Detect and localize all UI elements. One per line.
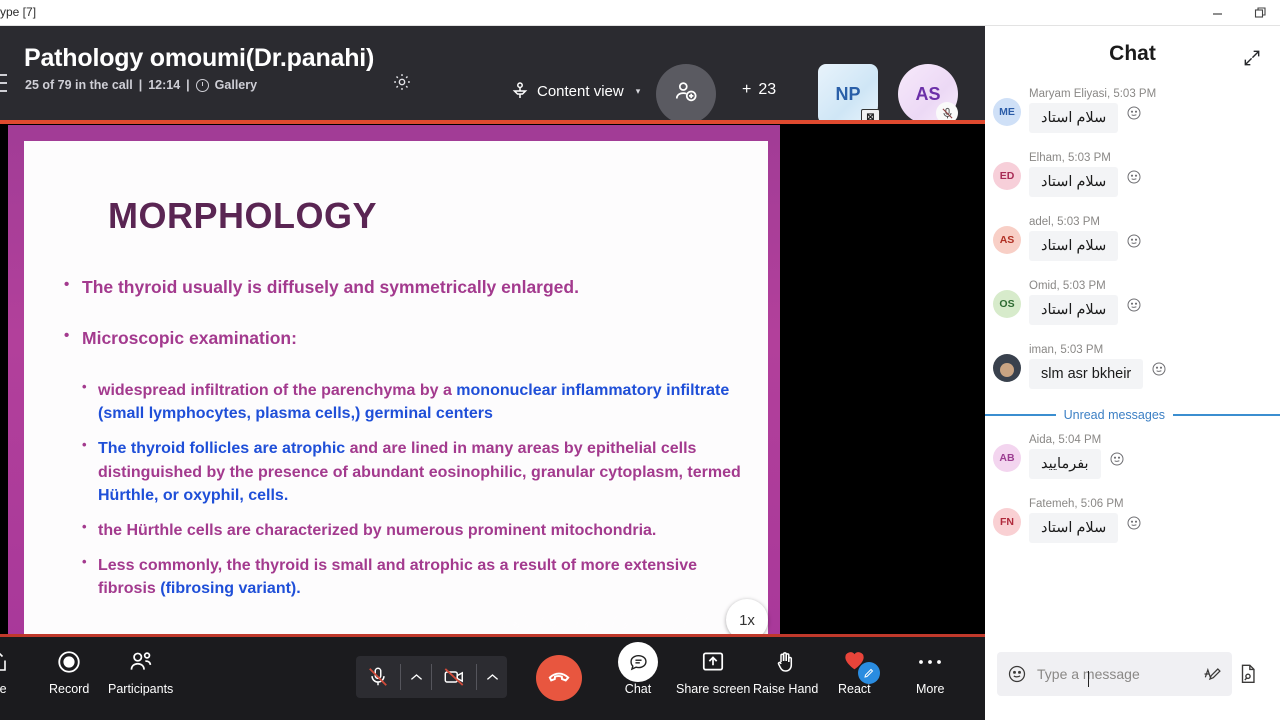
- list-item[interactable]: AS adel, 5:03 PM سلام استاد: [991, 216, 1270, 268]
- message-text: بفرمایید: [1029, 449, 1101, 479]
- chat-button[interactable]: Chat: [618, 648, 658, 696]
- participants-button[interactable]: Participants: [108, 648, 173, 696]
- record-icon: [56, 648, 82, 676]
- expand-icon[interactable]: [1242, 48, 1262, 68]
- smiley-icon[interactable]: [1126, 515, 1142, 531]
- layout-icon: [196, 79, 209, 92]
- subtitle-separator-2: |: [186, 78, 190, 92]
- invite-label: ite: [0, 682, 7, 696]
- emoji-icon[interactable]: [1007, 664, 1027, 684]
- avatar-np-initials: NP: [835, 84, 860, 105]
- content-view-icon: [512, 82, 528, 100]
- slide-body: The thyroid usually is diffusely and sym…: [50, 277, 742, 601]
- slide-bullet: Microscopic examination:: [64, 328, 742, 349]
- layout-label: Gallery: [215, 78, 257, 92]
- react-label: React: [838, 682, 871, 696]
- overflow-count: 23: [758, 81, 776, 99]
- mic-control-group[interactable]: [356, 656, 507, 698]
- smiley-icon[interactable]: [1126, 297, 1142, 313]
- avatar: FN: [993, 508, 1021, 536]
- avatar-np[interactable]: NP ⊠: [818, 64, 878, 124]
- add-person-icon: [673, 79, 699, 110]
- avatar-as[interactable]: AS: [898, 64, 958, 124]
- message-meta: Elham, 5:03 PM: [1029, 152, 1270, 164]
- chat-title: Chat: [985, 42, 1280, 66]
- unread-messages-divider: Unread messages: [985, 408, 1280, 422]
- message-text: سلام استاد: [1029, 295, 1118, 325]
- text-cursor: [1088, 671, 1089, 687]
- divider-line-left: [985, 414, 1056, 416]
- meeting-header: Pathology omoumi(Dr.panahi) 25 of 79 in …: [0, 26, 985, 120]
- raise-hand-label: Raise Hand: [753, 682, 818, 696]
- list-item[interactable]: AB Aida, 5:04 PM بفرمایید: [991, 434, 1270, 486]
- slide-frame[interactable]: MORPHOLOGY The thyroid usually is diffus…: [8, 125, 780, 653]
- mic-options-chevron-icon[interactable]: [401, 656, 431, 698]
- smiley-icon[interactable]: [1151, 361, 1167, 377]
- gear-icon[interactable]: [392, 72, 412, 92]
- meeting-title: Pathology omoumi(Dr.panahi): [24, 44, 374, 73]
- camera-off-icon[interactable]: [432, 656, 476, 698]
- avatar: AS: [993, 226, 1021, 254]
- avatar-as-initials: AS: [915, 84, 940, 105]
- attach-file-icon[interactable]: [1226, 652, 1270, 696]
- chat-label: Chat: [625, 682, 651, 696]
- smiley-icon[interactable]: [1126, 105, 1142, 121]
- slide-bullet: The thyroid follicles are atrophic and a…: [82, 437, 742, 507]
- format-text-icon[interactable]: [1202, 664, 1222, 684]
- ellipsis-icon: [917, 648, 943, 676]
- slide-bullet: Less commonly, the thyroid is small and …: [82, 554, 742, 600]
- smiley-icon[interactable]: [1126, 169, 1142, 185]
- message-meta: Fatemeh, 5:06 PM: [1029, 498, 1270, 510]
- chat-panel: Chat ME Maryam Eliyasi, 5:03 PM سلام است…: [985, 26, 1280, 720]
- slide-canvas: MORPHOLOGY The thyroid usually is diffus…: [24, 141, 768, 641]
- chevron-down-icon[interactable]: ▾: [636, 86, 641, 97]
- message-text: سلام استاد: [1029, 513, 1118, 543]
- content-view-label: Content view: [537, 83, 624, 100]
- share-screen-label: Share screen: [676, 682, 750, 696]
- chat-message-list[interactable]: ME Maryam Eliyasi, 5:03 PM سلام استاد ED…: [985, 88, 1280, 550]
- message-text: سلام استاد: [1029, 103, 1118, 133]
- message-input[interactable]: Type a message: [1037, 666, 1192, 682]
- slide-bullet: The thyroid usually is diffusely and sym…: [64, 277, 742, 298]
- edit-reaction-badge[interactable]: [858, 662, 880, 684]
- subtitle-separator-1: |: [139, 78, 143, 92]
- meeting-toolbar: ite Record Participants: [0, 634, 985, 720]
- divider-line-right: [1173, 414, 1280, 416]
- invite-button[interactable]: ite: [0, 648, 12, 696]
- smiley-icon[interactable]: [1126, 233, 1142, 249]
- shared-content-stage: MORPHOLOGY The thyroid usually is diffus…: [0, 120, 985, 660]
- participants-label: Participants: [108, 682, 173, 696]
- list-item[interactable]: ED Elham, 5:03 PM سلام استاد: [991, 152, 1270, 204]
- content-view-button[interactable]: Content view ▾: [512, 82, 640, 100]
- react-button[interactable]: React: [838, 648, 871, 696]
- avatar: ME: [993, 98, 1021, 126]
- list-item[interactable]: ME Maryam Eliyasi, 5:03 PM سلام استاد: [991, 88, 1270, 140]
- mic-muted-icon[interactable]: [356, 656, 400, 698]
- message-text: slm asr bkheir: [1029, 359, 1143, 389]
- raise-hand-icon: [774, 648, 798, 676]
- window-controls: [1208, 0, 1270, 26]
- smiley-icon[interactable]: [1109, 451, 1125, 467]
- record-label: Record: [49, 682, 89, 696]
- message-text: سلام استاد: [1029, 167, 1118, 197]
- more-button[interactable]: More: [916, 648, 944, 696]
- message-composer[interactable]: Type a message: [997, 652, 1232, 696]
- slide-bullet: the Hürthle cells are characterized by n…: [82, 519, 742, 542]
- stage-accent-line: [0, 120, 985, 124]
- meeting-subtitle: 25 of 79 in the call | 12:14 | Gallery: [25, 78, 257, 92]
- hangup-button[interactable]: [536, 655, 582, 701]
- message-meta: iman, 5:03 PM: [1029, 344, 1270, 356]
- window-title: ype [7]: [0, 5, 36, 19]
- share-screen-icon: [700, 648, 726, 676]
- toolbar-accent-line: [0, 634, 985, 637]
- more-label: More: [916, 682, 944, 696]
- chat-header: Chat: [985, 26, 1280, 88]
- hamburger-icon[interactable]: [0, 74, 8, 92]
- chat-icon: [618, 642, 658, 682]
- message-text: سلام استاد: [1029, 231, 1118, 261]
- hangup-icon: [546, 663, 572, 694]
- raise-hand-button[interactable]: Raise Hand: [753, 648, 818, 696]
- list-item[interactable]: iman, 5:03 PM slm asr bkheir: [991, 344, 1270, 396]
- slide-title: MORPHOLOGY: [108, 195, 742, 237]
- avatar: [993, 354, 1021, 382]
- restore-icon[interactable]: [1252, 4, 1270, 22]
- message-meta: Maryam Eliyasi, 5:03 PM: [1029, 88, 1270, 100]
- avatar-photo: [1000, 363, 1014, 377]
- slide-bullet: widespread infiltration of the parenchym…: [82, 379, 742, 425]
- record-button[interactable]: Record: [49, 648, 89, 696]
- meeting-window: Pathology omoumi(Dr.panahi) 25 of 79 in …: [0, 26, 985, 720]
- message-meta: adel, 5:03 PM: [1029, 216, 1270, 228]
- list-item[interactable]: FN Fatemeh, 5:06 PM سلام استاد: [991, 498, 1270, 550]
- participants-icon: [128, 648, 154, 676]
- camera-options-chevron-icon[interactable]: [477, 656, 507, 698]
- plus-icon: +: [742, 81, 751, 99]
- avatar: AB: [993, 444, 1021, 472]
- participants-count: 25 of 79 in the call: [25, 78, 133, 92]
- invite-icon: [0, 648, 12, 676]
- message-meta: Omid, 5:03 PM: [1029, 280, 1270, 292]
- unread-messages-label: Unread messages: [1064, 408, 1165, 422]
- list-item[interactable]: OS Omid, 5:03 PM سلام استاد: [991, 280, 1270, 332]
- message-meta: Aida, 5:04 PM: [1029, 434, 1270, 446]
- window-titlebar: ype [7]: [0, 0, 1280, 26]
- call-duration: 12:14: [148, 78, 180, 92]
- overflow-participants[interactable]: + 23: [742, 81, 776, 99]
- avatar: ED: [993, 162, 1021, 190]
- minimize-icon[interactable]: [1208, 4, 1226, 22]
- share-screen-button[interactable]: Share screen: [676, 648, 750, 696]
- avatar: OS: [993, 290, 1021, 318]
- add-person-button[interactable]: [656, 64, 716, 124]
